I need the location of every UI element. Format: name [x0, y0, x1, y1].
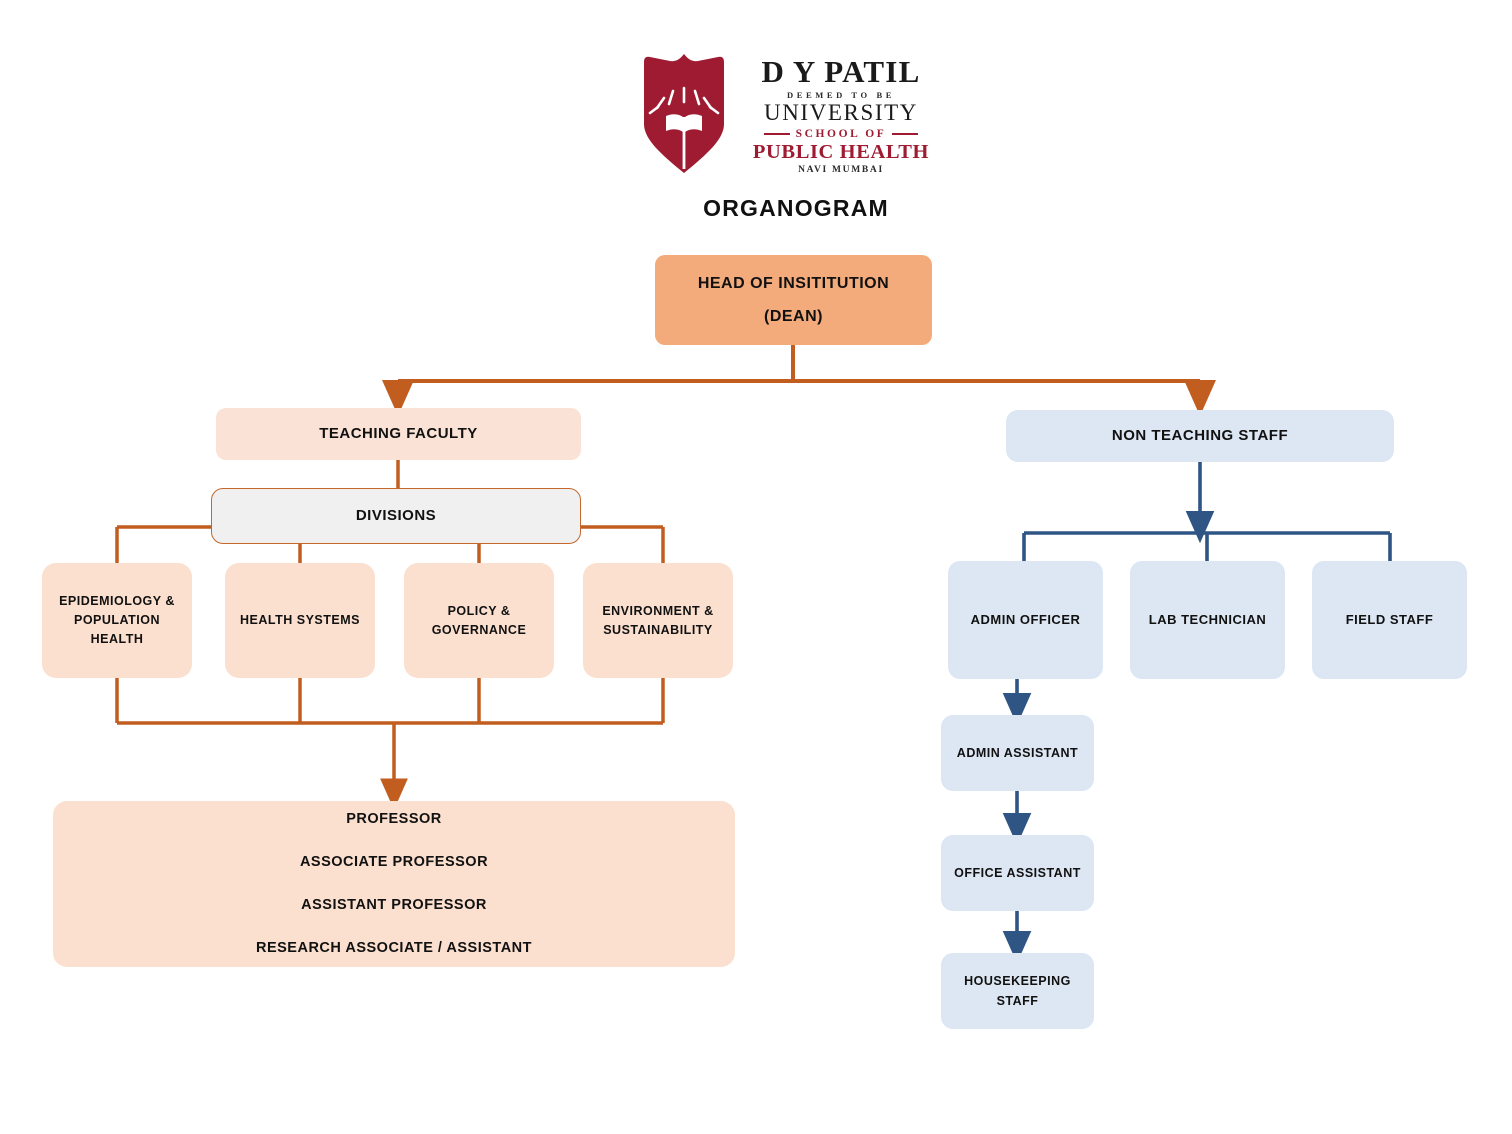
head-of-institution-line1: HEAD OF INSITITUTION: [698, 272, 889, 295]
logo-school-row: SCHOOL OF: [746, 128, 936, 140]
node-office-assistant[interactable]: OFFICE ASSISTANT: [941, 835, 1094, 911]
node-field-staff[interactable]: FIELD STAFF: [1312, 561, 1467, 679]
logo-university-word: UNIVERSITY: [764, 101, 918, 125]
node-division-policy-governance[interactable]: POLICY & GOVERNANCE: [404, 563, 554, 678]
logo-public-health: PUBLIC HEALTH: [753, 141, 929, 163]
faculty-rank-item: ASSOCIATE PROFESSOR: [300, 852, 488, 873]
head-of-institution-line2: (DEAN): [764, 305, 823, 328]
admin-chain-label: HOUSEKEEPING STAFF: [947, 971, 1088, 1011]
page-title-text: ORGANOGRAM: [703, 195, 889, 221]
faculty-rank-item: PROFESSOR: [346, 809, 442, 830]
division-label: EPIDEMIOLOGY & POPULATION HEALTH: [50, 592, 184, 648]
node-teaching-faculty[interactable]: TEACHING FACULTY: [216, 408, 581, 460]
node-faculty-ranks[interactable]: PROFESSOR ASSOCIATE PROFESSOR ASSISTANT …: [53, 801, 735, 967]
university-logo: D Y PATIL DEEMED TO BE UNIVERSITY SCHOOL…: [640, 52, 950, 180]
node-non-teaching-staff[interactable]: NON TEACHING STAFF: [1006, 410, 1394, 462]
division-label: HEALTH SYSTEMS: [240, 611, 360, 630]
staff-role-label: ADMIN OFFICER: [971, 610, 1081, 630]
logo-deemed-text: DEEMED TO BE: [787, 90, 895, 100]
node-head-of-institution[interactable]: HEAD OF INSITITUTION (DEAN): [655, 255, 932, 345]
node-admin-assistant[interactable]: ADMIN ASSISTANT: [941, 715, 1094, 791]
node-division-environment-sustainability[interactable]: ENVIRONMENT & SUSTAINABILITY: [583, 563, 733, 678]
logo-school-of: SCHOOL OF: [796, 128, 887, 140]
divisions-label: DIVISIONS: [356, 505, 436, 527]
division-label: POLICY & GOVERNANCE: [412, 602, 546, 640]
logo-navi-mumbai: NAVI MUMBAI: [798, 165, 884, 175]
page-title: ORGANOGRAM: [0, 195, 1512, 222]
node-divisions[interactable]: DIVISIONS: [211, 488, 581, 544]
node-housekeeping-staff[interactable]: HOUSEKEEPING STAFF: [941, 953, 1094, 1029]
logo-rule-left: [764, 133, 790, 135]
non-teaching-staff-label: NON TEACHING STAFF: [1112, 425, 1288, 447]
teaching-faculty-label: TEACHING FACULTY: [319, 423, 478, 445]
dy-patil-shield-icon: [640, 52, 728, 176]
node-admin-officer[interactable]: ADMIN OFFICER: [948, 561, 1103, 679]
admin-chain-label: OFFICE ASSISTANT: [954, 863, 1081, 883]
node-lab-technician[interactable]: LAB TECHNICIAN: [1130, 561, 1285, 679]
division-label: ENVIRONMENT & SUSTAINABILITY: [591, 602, 725, 640]
faculty-rank-item: ASSISTANT PROFESSOR: [301, 895, 487, 916]
node-division-health-systems[interactable]: HEALTH SYSTEMS: [225, 563, 375, 678]
organogram-canvas: D Y PATIL DEEMED TO BE UNIVERSITY SCHOOL…: [0, 0, 1512, 1134]
logo-rule-right: [892, 133, 918, 135]
logo-university-name: D Y PATIL: [762, 56, 921, 88]
node-division-epidemiology[interactable]: EPIDEMIOLOGY & POPULATION HEALTH: [42, 563, 192, 678]
staff-role-label: LAB TECHNICIAN: [1149, 610, 1267, 630]
staff-role-label: FIELD STAFF: [1346, 610, 1434, 630]
admin-chain-label: ADMIN ASSISTANT: [957, 743, 1078, 763]
faculty-rank-item: RESEARCH ASSOCIATE / ASSISTANT: [256, 938, 532, 959]
